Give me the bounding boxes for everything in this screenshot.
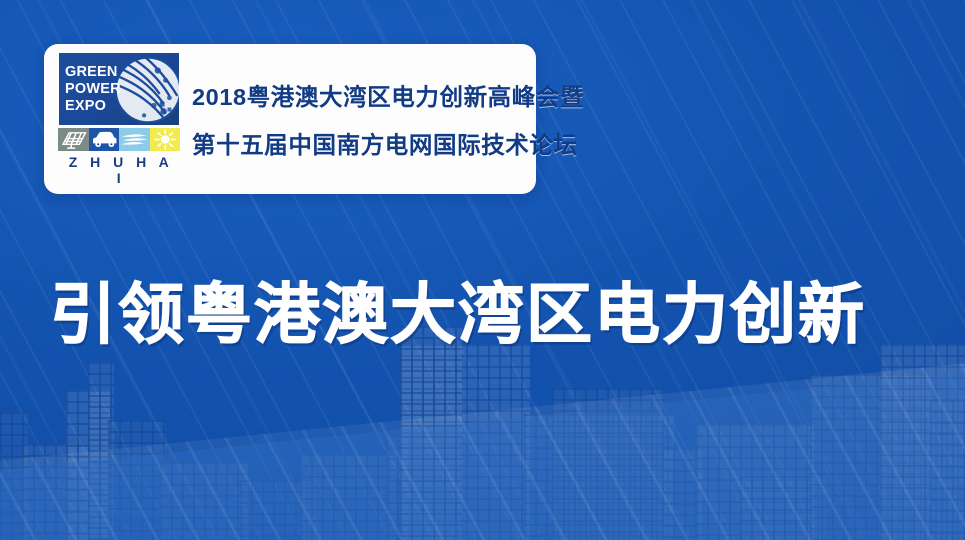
conference-poster: GREEN POWER EXPO [0,0,965,540]
logo-wordmark: GREEN POWER EXPO [59,64,121,115]
header-card: GREEN POWER EXPO [44,44,536,194]
logo-name-panel: GREEN POWER EXPO [58,52,180,126]
solar-panel-icon [58,128,89,151]
card-title-line-1: 2018粤港澳大湾区电力创新高峰会暨 [192,78,584,112]
logo-city-label: Z H U H A I [58,154,180,186]
electric-car-icon [89,128,120,151]
logo-icon-strip [58,128,180,151]
expo-logo: GREEN POWER EXPO [58,52,180,186]
solar-sun-icon [150,128,181,151]
card-title-line-2: 第十五届中国南方电网国际技术论坛 [192,126,584,160]
logo-word-expo: EXPO [65,98,121,115]
logo-word-green: GREEN [65,64,121,81]
main-headline: 引领粤港澳大湾区电力创新 [50,278,930,350]
wind-energy-icon [119,128,150,151]
card-title-block: 2018粤港澳大湾区电力创新高峰会暨 第十五届中国南方电网国际技术论坛 [188,78,584,160]
logo-word-power: POWER [65,81,121,98]
